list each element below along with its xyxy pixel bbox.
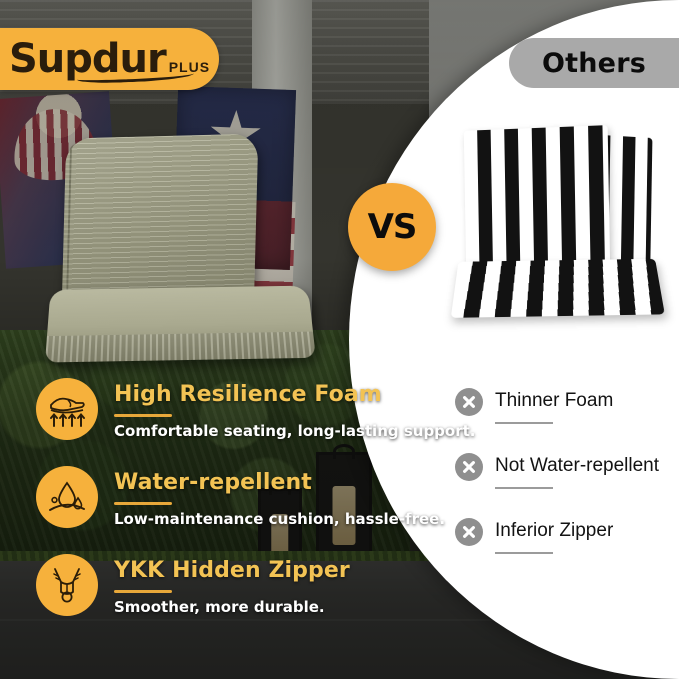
drawback-divider xyxy=(495,422,553,424)
others-badge-label: Others xyxy=(542,48,646,79)
drawback-label: Thinner Foam xyxy=(495,386,613,416)
feature-divider xyxy=(114,502,172,505)
drawback-divider xyxy=(495,552,553,554)
water-droplet-repel-icon xyxy=(36,466,98,528)
competitor-cushion-back xyxy=(464,125,611,280)
versus-label: VS xyxy=(368,207,417,247)
brand-logo-badge: Supdur PLUS xyxy=(0,28,219,90)
hand-on-foam-with-up-arrows-icon xyxy=(36,378,98,440)
zipper-icon xyxy=(36,554,98,616)
drawback-label: Inferior Zipper xyxy=(495,516,613,546)
feature-item: Water-repellent Low-maintenance cushion,… xyxy=(30,462,370,550)
x-circle-icon xyxy=(455,453,483,481)
feature-item: YKK Hidden Zipper Smoother, more durable… xyxy=(30,550,370,638)
competitor-cushion-seat xyxy=(451,259,665,318)
feature-title: High Resilience Foam xyxy=(114,382,382,407)
competitor-cushion-image xyxy=(455,128,670,318)
cushion-seat-pad xyxy=(45,286,316,363)
feature-subtitle: Comfortable seating, long-lasting suppor… xyxy=(114,422,476,440)
drawback-item: Thinner Foam xyxy=(455,386,679,451)
others-badge: Others xyxy=(509,38,679,88)
x-circle-icon xyxy=(455,388,483,416)
drawback-item: Not Water-repellent xyxy=(455,451,679,516)
brand-logo-lockup: Supdur PLUS xyxy=(9,39,210,79)
feature-title: Water-repellent xyxy=(114,470,312,495)
versus-badge: VS xyxy=(348,183,436,271)
comparison-infographic: Supdur PLUS Others VS xyxy=(0,0,679,679)
competitor-drawback-list: Thinner Foam Not Water-repellent Inferio… xyxy=(455,386,679,581)
cushion-back-pillow xyxy=(62,134,259,311)
our-cushion-image xyxy=(48,136,316,358)
feature-divider xyxy=(114,590,172,593)
feature-list: High Resilience Foam Comfortable seating… xyxy=(30,374,370,638)
feature-subtitle: Smoother, more durable. xyxy=(114,598,325,616)
feature-divider xyxy=(114,414,172,417)
feature-item: High Resilience Foam Comfortable seating… xyxy=(30,374,370,462)
drawback-divider xyxy=(495,487,553,489)
feature-title: YKK Hidden Zipper xyxy=(114,558,350,583)
drawback-item: Inferior Zipper xyxy=(455,516,679,581)
feature-subtitle: Low-maintenance cushion, hassle-free. xyxy=(114,510,445,528)
drawback-label: Not Water-repellent xyxy=(495,451,659,481)
x-circle-icon xyxy=(455,518,483,546)
